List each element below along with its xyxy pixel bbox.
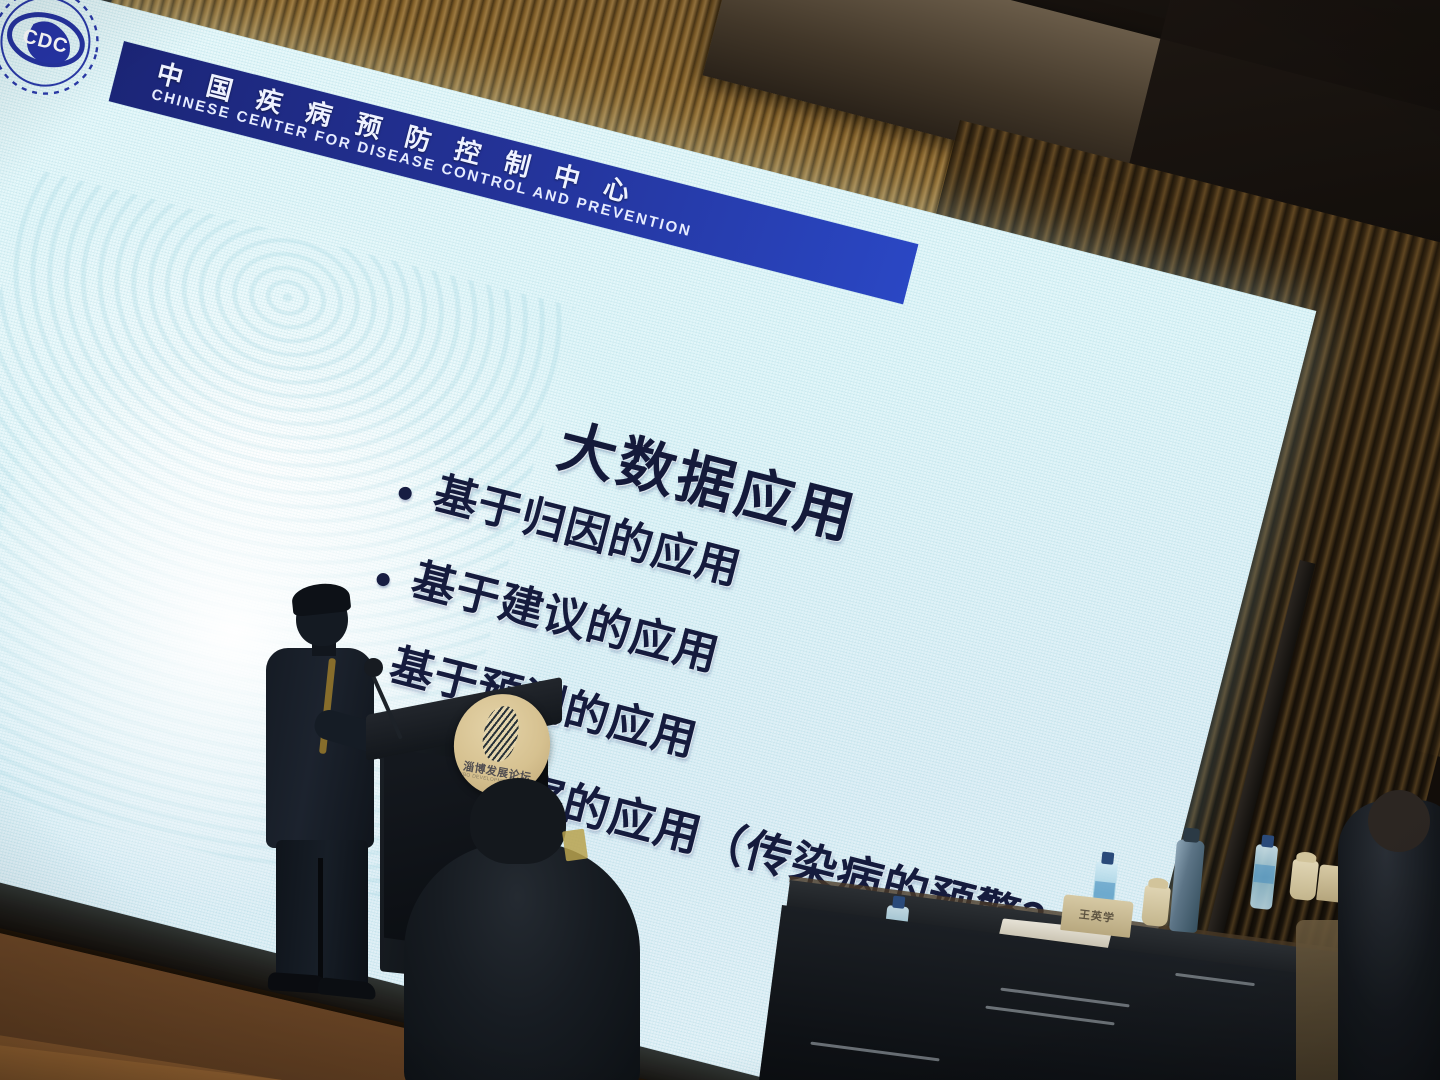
microphone-icon xyxy=(364,658,383,677)
seated-attendee-head xyxy=(1368,790,1430,852)
foreground-attendee-badge xyxy=(562,829,588,862)
cdc-logo: CDC xyxy=(0,0,118,117)
tea-cup xyxy=(1289,859,1319,901)
conference-photo-scene: CDC 中 国 疾 病 预 防 控 制 中 心 CHINESE CENTER F… xyxy=(0,0,1440,1080)
presenter-leg-gap xyxy=(318,858,323,978)
svg-text:CDC: CDC xyxy=(20,25,70,58)
foreground-attendee-head xyxy=(470,778,566,864)
placard-name: 王英学 xyxy=(1078,906,1116,926)
foreground-attendee-torso xyxy=(404,842,640,1080)
bullet-dot-icon xyxy=(375,571,391,587)
bullet-dot-icon xyxy=(397,485,413,501)
emblem-glyph-icon xyxy=(477,702,525,765)
name-placard: 王英学 xyxy=(1060,894,1134,938)
foreground-attendee xyxy=(404,778,640,1080)
tea-cup xyxy=(1141,885,1171,927)
